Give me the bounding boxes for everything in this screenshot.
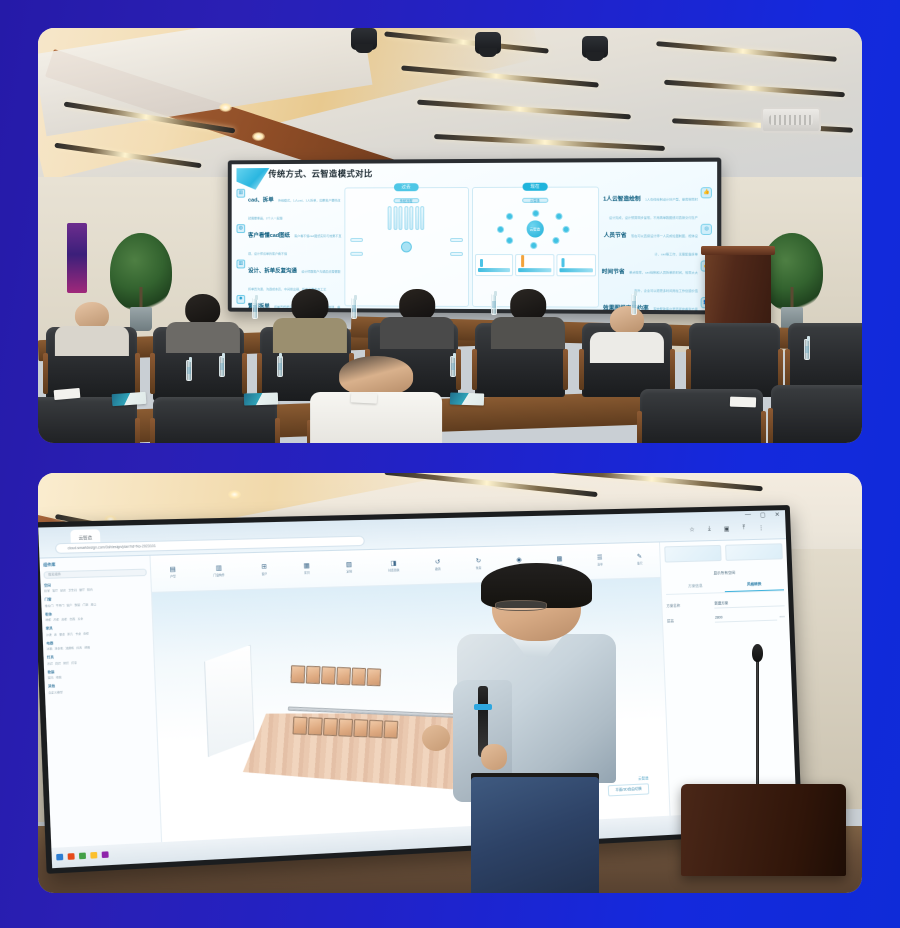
result-card: [516, 254, 555, 276]
toolbar-label: 清单: [598, 562, 604, 566]
star-icon[interactable]: ☆: [690, 526, 696, 533]
bullet-heading: 设计、拆单反复沟通: [248, 268, 297, 274]
hub-leaf: [350, 252, 363, 256]
bullet-detail: 现在可以直接设计师一人完成绘图制图，柜体设计、cad等工作，无需配备拆单: [631, 234, 698, 256]
taskbar-icon[interactable]: [79, 852, 86, 859]
library-item[interactable]: 自定义模型: [49, 689, 63, 694]
circle-node: [507, 237, 514, 244]
library-item[interactable]: 灶具: [77, 645, 83, 649]
result-card: [557, 254, 596, 276]
cabinet: [354, 719, 369, 737]
brochure: [112, 392, 147, 406]
water-bottle: [252, 298, 258, 319]
toolbar-label: 家具: [304, 570, 310, 574]
flow-hub: [345, 234, 468, 260]
library-item[interactable]: 推拉门: [45, 602, 54, 607]
wall-cabinet-row: [291, 664, 382, 685]
cabinet: [306, 665, 321, 683]
measure-icon: ✎: [637, 554, 642, 560]
chart-icon: ▥: [237, 259, 246, 268]
attendee: [380, 289, 454, 343]
bullet-detail: 单点效率，cad绘制和人员拆单的时间，效率大大提升，企业可以把更多时间用在工作创…: [630, 270, 699, 293]
circle-center-label: 云智造: [527, 220, 544, 237]
brochure: [244, 393, 278, 406]
door-icon: ▥: [216, 565, 223, 572]
toolbar-item-jiaju[interactable]: ▦ 家具: [304, 563, 311, 575]
speaking-podium: [681, 784, 846, 876]
circle-node: [553, 237, 560, 244]
conference-room-scene: 传统方式、云智造模式对比 ▥ cad、拆单 传统模式，1人cad、1人拆单，如果…: [38, 28, 862, 443]
chair: [689, 323, 780, 398]
water-bottle: [804, 339, 810, 360]
library-group: 家具 沙发 床 餐桌 茶几 书桌 衣柜: [46, 622, 149, 635]
user-icon: ◍: [237, 224, 246, 233]
field-value[interactable]: 2800: [715, 613, 777, 622]
presentation-slide: 传统方式、云智造模式对比 ▥ cad、拆单 传统模式，1人cad、1人拆单，如果…: [232, 161, 718, 309]
toolbar-item-redo[interactable]: ↻ 恢复: [476, 558, 482, 569]
toolbar-item-huxing[interactable]: ▤ 户型: [170, 566, 177, 578]
library-item[interactable]: 餐厅: [79, 587, 85, 591]
library-item[interactable]: 油烟机: [66, 645, 75, 650]
cabinet: [308, 717, 323, 735]
attendee: [590, 306, 664, 360]
library-group: 软装 窗帘 地毯: [48, 665, 151, 679]
toolbar-item-undo[interactable]: ↺ 撤销: [435, 559, 441, 571]
toolbar-label: 户型: [170, 574, 176, 578]
library-group: 电器 冰箱 洗衣机 油烟机 灶具 烤箱: [47, 637, 150, 651]
speaking-podium: [705, 252, 771, 324]
water-bottle: [491, 294, 497, 315]
library-item[interactable]: 冰箱: [47, 646, 53, 650]
toolbar-item-caizhi[interactable]: ◨ 材质替换: [388, 560, 400, 572]
tab-plan-info[interactable]: 方案信息: [666, 579, 726, 593]
library-item[interactable]: 窗户: [67, 602, 73, 606]
panel-past: 过去 传统流程: [344, 187, 469, 307]
ac-vent: [761, 107, 821, 133]
field-label: 层高: [667, 616, 712, 623]
taskbar-icon[interactable]: [102, 851, 109, 858]
water-bottle: [450, 356, 456, 377]
library-item[interactable]: 烤箱: [85, 645, 91, 649]
library-item[interactable]: 射灯: [64, 660, 70, 664]
library-group: 空间 卧室 客厅 厨房 卫生间 餐厅 阳台: [44, 579, 147, 592]
library-group: 灯具 吊灯 筒灯 射灯 灯带: [47, 651, 150, 665]
field-unit: mm: [780, 614, 785, 618]
library-item[interactable]: 垭口: [91, 601, 97, 605]
attendee: [54, 302, 128, 352]
field-value[interactable]: 新建方案: [715, 597, 785, 607]
cloud-circle-diagram: 云智造: [473, 207, 598, 249]
toolbar-item-chuanghu[interactable]: ⊞ 窗户: [262, 564, 268, 576]
cabinet: [352, 667, 367, 685]
cabinet: [338, 718, 353, 736]
water-bottle: [277, 356, 283, 377]
library-item[interactable]: 卫生间: [69, 587, 78, 592]
browser-action-icons: ☆ ⤓ ▣ ⤒ ⋮: [690, 524, 765, 533]
library-group: 其他 自定义模型: [48, 680, 151, 694]
field-ceiling-height: 层高 2800 mm: [667, 612, 785, 623]
room-wall: [204, 644, 256, 756]
cabinet: [291, 664, 306, 682]
slide-bullet: ◎ 人员节省 现在可以直接设计师一人完成绘图制图，柜体设计、cad等工作，无需配…: [601, 224, 713, 261]
furniture-icon: ▦: [304, 563, 310, 569]
ceiling-speaker: [475, 32, 501, 54]
window-controls: — ▢ ✕: [745, 511, 780, 519]
library-item[interactable]: 衣柜: [83, 630, 89, 634]
panel-icon[interactable]: ▣: [724, 525, 730, 532]
show-all-rooms-label[interactable]: 显示所有空间: [666, 568, 784, 576]
toolbar-item-dingzhi[interactable]: ▧ 定制: [346, 561, 353, 573]
flow-bars: [345, 206, 468, 230]
presenter-scene: 云智造 — ▢ ✕ cloud.smartdesign.com/3d/desig…: [38, 473, 862, 893]
circle-node: [507, 213, 514, 220]
library-item[interactable]: 吊灯: [48, 660, 54, 664]
library-group: 柜体 地柜 吊柜 高柜 台面 五金: [46, 608, 149, 621]
library-item[interactable]: 洗衣机: [55, 645, 64, 650]
circle-node: [530, 241, 537, 248]
taskbar-icon[interactable]: [68, 853, 75, 860]
cabinet: [336, 666, 351, 684]
water-bottle: [351, 298, 357, 319]
slide-right-column: 👍 1人云智造绘制 1人在线绘制设计好户型，量房架同时设计完成，设计预算同步呈现…: [601, 186, 713, 308]
result-cards: [473, 254, 598, 276]
sidebar-title: 组件库: [44, 559, 147, 567]
panel-tag-now: 现在: [523, 182, 548, 190]
toolbar-label: 窗户: [262, 571, 268, 575]
ceiling-speaker: [351, 28, 377, 50]
poster-root: 传统方式、云智造模式对比 ▥ cad、拆单 传统模式，1人cad、1人拆单，如果…: [0, 0, 900, 928]
minimize-icon[interactable]: —: [745, 511, 751, 518]
slide-bullet: 👍 1人云智造绘制 1人在线绘制设计好户型，量房架同时设计完成，设计预算同步呈现…: [601, 187, 713, 224]
window-icon: ⊞: [262, 564, 268, 570]
attendee: [166, 294, 240, 348]
library-item[interactable]: 高柜: [62, 616, 68, 620]
bullet-heading: 1人云智造绘制: [604, 196, 641, 202]
attendee: [273, 289, 347, 347]
circle-node: [563, 225, 570, 232]
wall-icon: ▤: [170, 566, 177, 573]
conference-room-audience-photo: 传统方式、云智造模式对比 ▥ cad、拆单 传统模式，1人cad、1人拆单，如果…: [38, 28, 862, 443]
bullet-heading: cad、拆单: [248, 197, 274, 203]
result-card: [475, 254, 514, 276]
library-item[interactable]: 台面: [70, 616, 76, 620]
circle-node: [533, 209, 540, 216]
toolbar-label: 撤销: [435, 566, 441, 570]
glasses-icon: [495, 600, 547, 610]
field-plan-name: 方案名称 新建方案: [667, 597, 785, 609]
handout-paper: [730, 397, 756, 408]
slide-decoration-icon: [237, 168, 270, 190]
hub-leaf: [350, 237, 363, 241]
maximize-icon[interactable]: ▢: [760, 511, 766, 518]
library-item[interactable]: 床: [54, 631, 57, 635]
camera-icon: ◉: [517, 557, 523, 563]
flow-node: 传统流程: [394, 198, 420, 203]
slide-bullet: ◍ 客户看懂cad图纸 客户看不懂cad图纸实际与效果不直观，设计师谈单的客户看…: [237, 224, 343, 260]
taskbar-icon[interactable]: [57, 853, 64, 860]
water-bottle: [186, 360, 192, 381]
material-icon: ◨: [391, 560, 397, 566]
slide-bullet: 👍 时间节省 单点效率，cad绘制和人员拆单的时间，效率大大提升，企业可以把更多…: [601, 260, 713, 297]
presenter-jeans: [471, 777, 599, 893]
taskbar-icon[interactable]: [91, 851, 98, 858]
share-icon[interactable]: ⤒: [743, 525, 746, 532]
redo-icon: ↻: [476, 558, 482, 564]
slide-bullet: ▥ cad、拆单 传统模式，1人cad、1人拆单，如果客户要修改就需要重画，2个…: [237, 188, 343, 224]
slide-left-column: ▥ cad、拆单 传统模式，1人cad、1人拆单，如果客户要修改就需要重画，2个…: [237, 187, 343, 305]
tab-style-switch[interactable]: 风格转换: [725, 577, 784, 591]
library-item[interactable]: 卧室: [45, 588, 51, 592]
properties-sidebar: 显示所有空间 方案信息 风格转换 方案名称 新建方案 层高 2800 mm: [659, 538, 796, 814]
attendee: [491, 289, 565, 343]
undo-icon: ↺: [435, 559, 441, 565]
presenter-demo-photo: 云智造 — ▢ ✕ cloud.smartdesign.com/3d/desig…: [38, 473, 862, 893]
layout-icon: ▩: [557, 556, 563, 562]
downlight: [252, 132, 265, 141]
presenter: [450, 570, 623, 893]
cabinet: [293, 716, 308, 734]
chair: [771, 385, 862, 443]
library-item[interactable]: 飘窗: [75, 602, 81, 606]
water-bottle: [631, 294, 637, 315]
library-item[interactable]: 厨房: [61, 588, 67, 592]
bullet-heading: 人员节省: [604, 233, 627, 239]
cabinet-icon: ▧: [346, 561, 352, 567]
library-item[interactable]: 平开门: [56, 602, 65, 607]
library-item[interactable]: 阳台: [87, 587, 93, 591]
library-item[interactable]: 吊柜: [54, 617, 60, 621]
cabinet: [367, 667, 382, 685]
library-group: 门窗 推拉门 平开门 窗户 飘窗 门洞 垭口: [45, 594, 148, 607]
toolbar-label: 门窗构件: [214, 572, 226, 577]
hub-leaf: [450, 252, 463, 256]
chart-icon: ▥: [237, 189, 246, 198]
slide-title: 传统方式、云智造模式对比: [269, 167, 373, 179]
toolbar-label: 材质替换: [389, 567, 400, 571]
list-icon: ☰: [597, 555, 603, 561]
toolbar-item-menchuang[interactable]: ▥ 门窗构件: [213, 565, 225, 577]
library-item[interactable]: 客厅: [53, 588, 59, 592]
library-item[interactable]: 地毯: [56, 674, 62, 678]
style-thumbnail[interactable]: [726, 542, 783, 560]
presenter-hand: [422, 725, 450, 751]
panel-tag-past: 过去: [394, 183, 419, 191]
bullet-heading: 时间节省: [602, 269, 625, 275]
toolbar-item-list[interactable]: ☰ 清单: [597, 555, 603, 566]
library-item[interactable]: 沙发: [46, 631, 52, 635]
library-item[interactable]: 灯带: [72, 659, 78, 663]
library-item[interactable]: 书桌: [76, 630, 82, 634]
toolbar-item-measure[interactable]: ✎ 量尺: [637, 554, 643, 565]
handout-paper: [351, 393, 377, 404]
target-icon: ◎: [701, 224, 712, 235]
presenter-hand: [481, 744, 507, 770]
cabinet: [369, 720, 384, 738]
thumbs-up-icon: 👍: [701, 187, 712, 198]
download-icon[interactable]: ⤓: [708, 526, 711, 533]
library-item[interactable]: 窗帘: [48, 675, 54, 679]
style-thumbnail[interactable]: [665, 544, 723, 562]
water-bottle: [219, 356, 225, 377]
properties-tabs: 方案信息 风格转换: [666, 577, 784, 594]
circle-node: [555, 213, 562, 220]
library-item[interactable]: 筒灯: [56, 660, 62, 664]
cabinet: [321, 665, 336, 683]
style-thumbnails: [665, 542, 783, 561]
toolbar-label: 定制: [347, 569, 353, 573]
downlight: [228, 490, 241, 499]
circle-node: [498, 225, 505, 232]
library-item[interactable]: 地柜: [46, 617, 52, 621]
brochure: [450, 393, 484, 406]
component-library-sidebar: 组件库 搜索组件 空间 卧室 客厅 厨房 卫生间 餐厅 阳台: [40, 555, 162, 847]
library-item[interactable]: 餐桌: [60, 631, 66, 635]
library-item[interactable]: 五金: [78, 616, 84, 620]
hub-center: [401, 241, 412, 252]
search-input[interactable]: 搜索组件: [44, 568, 147, 578]
cabinet: [323, 718, 338, 736]
hub-leaf: [450, 237, 463, 241]
toolbar-label: 量尺: [637, 561, 642, 565]
flow-node: 云智造: [522, 197, 548, 202]
library-item[interactable]: 门洞: [83, 601, 89, 605]
roll-up-banner: [67, 223, 87, 293]
more-icon[interactable]: ⋮: [759, 524, 765, 531]
field-label: 方案名称: [667, 601, 712, 607]
cabinet: [384, 720, 399, 738]
downlight: [219, 103, 232, 112]
bullet-heading: 客户看懂cad图纸: [248, 233, 290, 239]
close-icon[interactable]: ✕: [775, 511, 780, 518]
library-item[interactable]: 茶几: [68, 631, 74, 635]
ceiling-speaker: [582, 36, 608, 58]
